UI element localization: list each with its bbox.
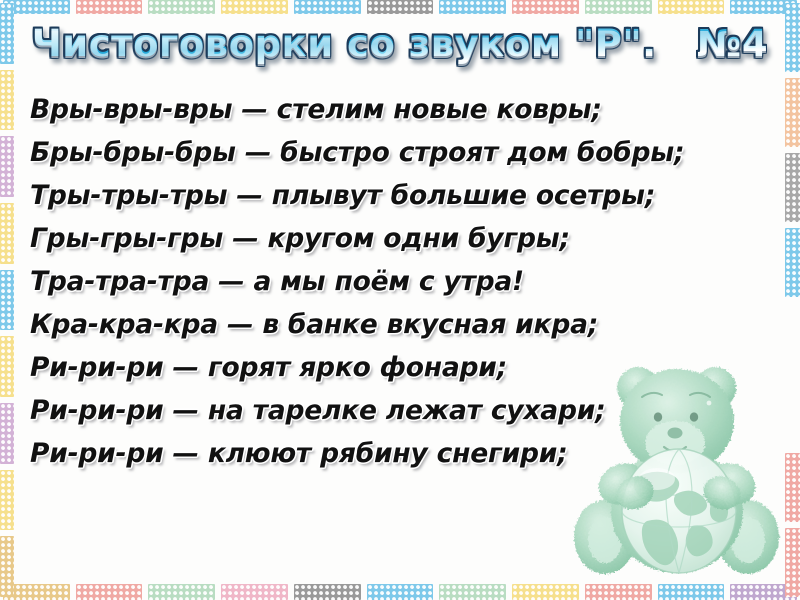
tongue-twister-list: Вры-вры-вры — стелим новые ковры;Бры-бры… bbox=[30, 88, 770, 475]
frame-left-border bbox=[0, 0, 14, 600]
frame-segment bbox=[585, 0, 652, 14]
frame-segment bbox=[221, 584, 288, 600]
frame-segment bbox=[785, 228, 800, 297]
frame-segment bbox=[3, 584, 70, 600]
frame-bottom-border bbox=[0, 584, 800, 600]
frame-segment bbox=[0, 403, 14, 464]
tongue-twister-line: Тра-тра-тра — а мы поём с утра! bbox=[30, 260, 770, 303]
frame-top-border bbox=[0, 0, 800, 14]
tongue-twister-line: Кра-кра-кра — в банке вкусная икра; bbox=[30, 303, 770, 346]
frame-segment bbox=[3, 0, 70, 14]
frame-segment bbox=[658, 0, 725, 14]
frame-segment bbox=[0, 70, 14, 131]
worksheet-card: Чистоговорки со звуком "Р". №4 Вры-вры-в… bbox=[0, 0, 800, 600]
frame-segment bbox=[0, 203, 14, 264]
frame-segment bbox=[294, 0, 361, 14]
frame-segment bbox=[512, 584, 579, 600]
tongue-twister-line: Вры-вры-вры — стелим новые ковры; bbox=[30, 88, 770, 131]
tongue-twister-line: Ри-ри-ри — клюют рябину снегири; bbox=[30, 432, 770, 475]
frame-segment bbox=[367, 584, 434, 600]
frame-segment bbox=[0, 336, 14, 397]
frame-right-border bbox=[785, 0, 800, 600]
frame-segment bbox=[148, 584, 215, 600]
frame-segment bbox=[730, 584, 797, 600]
frame-segment bbox=[76, 584, 143, 600]
tongue-twister-line: Бры-бры-бры — быстро строят дом бобры; bbox=[30, 131, 770, 174]
frame-segment bbox=[785, 78, 800, 147]
frame-segment bbox=[512, 0, 579, 14]
frame-segment bbox=[148, 0, 215, 14]
frame-segment bbox=[367, 0, 434, 14]
frame-segment bbox=[0, 270, 14, 331]
frame-segment bbox=[0, 136, 14, 197]
frame-segment bbox=[730, 0, 797, 14]
frame-segment bbox=[76, 0, 143, 14]
frame-segment bbox=[785, 153, 800, 222]
page-title: Чистоговорки со звуком "Р". №4 bbox=[32, 22, 768, 65]
frame-segment bbox=[439, 0, 506, 14]
tongue-twister-line: Ри-ри-ри — на тарелке лежат сухари; bbox=[30, 389, 770, 432]
tongue-twister-line: Тры-тры-тры — плывут большие осетры; bbox=[30, 174, 770, 217]
frame-segment bbox=[0, 536, 14, 597]
frame-segment bbox=[785, 453, 800, 522]
frame-segment bbox=[785, 528, 800, 597]
frame-segment bbox=[439, 584, 506, 600]
frame-segment bbox=[221, 0, 288, 14]
frame-segment bbox=[658, 584, 725, 600]
title-bar: Чистоговорки со звуком "Р". №4 bbox=[0, 22, 800, 65]
tongue-twister-line: Гры-гры-гры — кругом одни бугры; bbox=[30, 217, 770, 260]
frame-segment bbox=[585, 584, 652, 600]
tongue-twister-line: Ри-ри-ри — горят ярко фонари; bbox=[30, 346, 770, 389]
frame-segment bbox=[0, 470, 14, 531]
frame-segment bbox=[294, 584, 361, 600]
